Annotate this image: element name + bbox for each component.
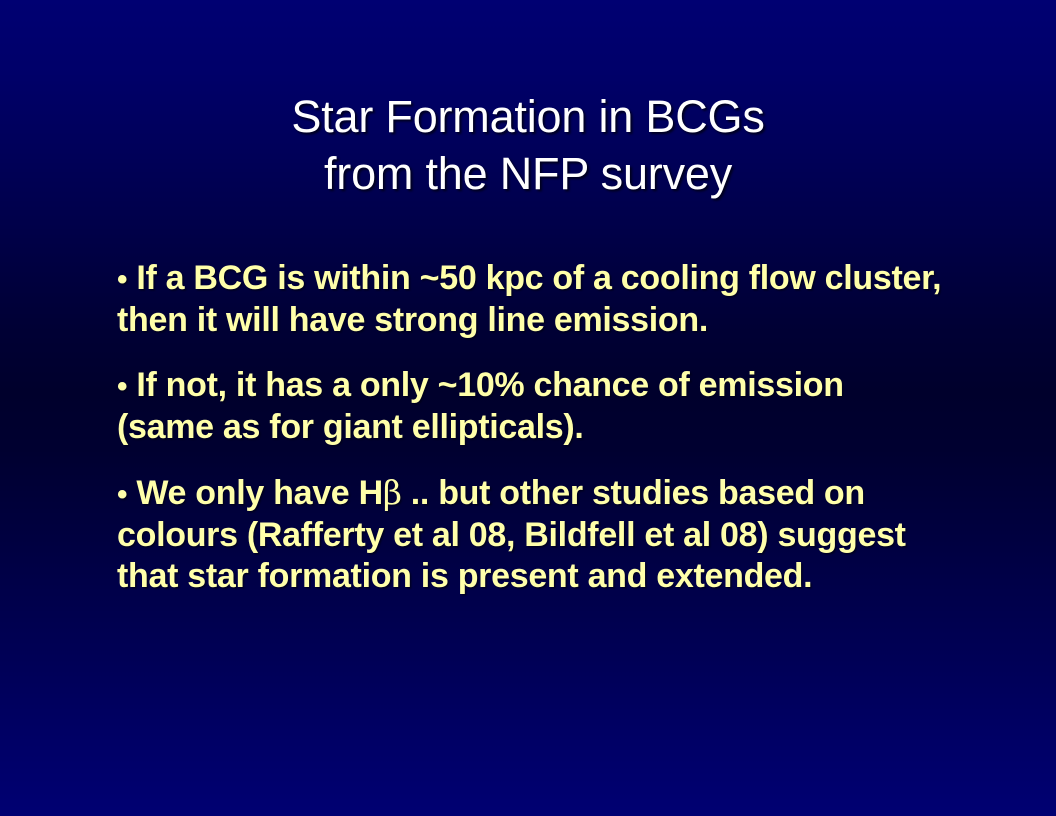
bullet-text-before-symbol: We only have H [127,474,383,512]
bullet-marker-icon: • [117,370,127,403]
bullet-marker-icon: • [117,263,127,296]
bullet-text: If a BCG is within ~50 kpc of a cooling … [117,259,941,339]
bullet-text: If not, it has a only ~10% chance of emi… [117,366,844,446]
slide-body-content: • If a BCG is within ~50 kpc of a coolin… [117,258,947,597]
bullet-item: • If not, it has a only ~10% chance of e… [117,365,947,448]
slide-title: Star Formation in BCGs from the NFP surv… [0,88,1056,202]
bullet-item: • We only have Hβ .. but other studies b… [117,472,947,597]
bullet-item: • If a BCG is within ~50 kpc of a coolin… [117,258,947,341]
greek-beta-symbol: β [383,473,402,512]
bullet-marker-icon: • [117,478,127,511]
presentation-slide: Star Formation in BCGs from the NFP surv… [0,0,1056,816]
